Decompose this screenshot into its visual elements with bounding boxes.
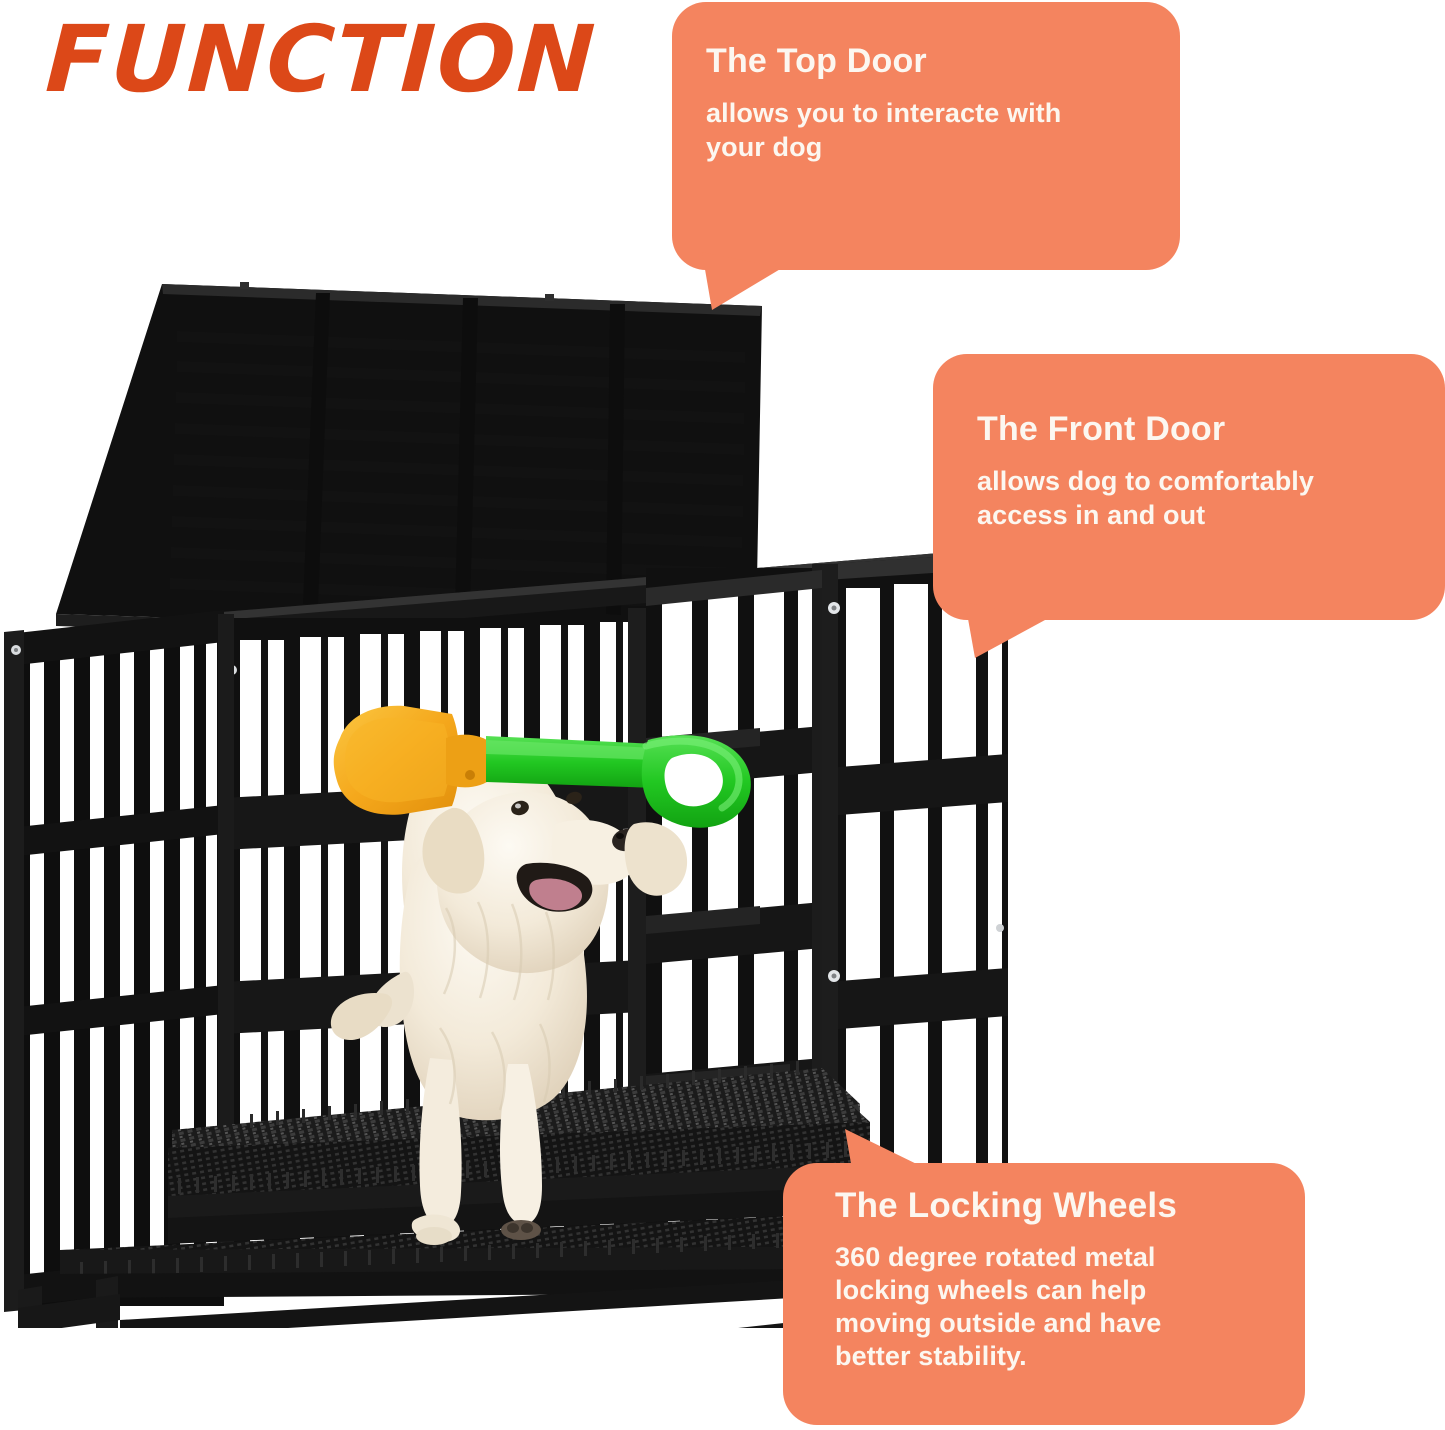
callout-top-door-body: The Top Door allows you to interacte wit… (672, 2, 1180, 270)
callout-locking-wheels-line-4: better stability. (835, 1340, 1271, 1373)
infographic-canvas: FUNCTION (0, 0, 1445, 1430)
callout-locking-wheels-body: The Locking Wheels 360 degree rotated me… (783, 1163, 1305, 1425)
callout-locking-wheels-line-2: locking wheels can help (835, 1274, 1271, 1307)
callout-locking-wheels-title: The Locking Wheels (835, 1185, 1271, 1227)
callout-front-door-tail (933, 602, 1133, 672)
callout-front-door-line-1: allows dog to comfortably (977, 464, 1411, 498)
callout-top-door-line-1: allows you to interacte with (706, 96, 1146, 130)
callout-front-door-title: The Front Door (977, 408, 1411, 450)
callout-locking-wheels-line-1: 360 degree rotated metal (835, 1241, 1271, 1274)
callout-top-door-line-2: your dog (706, 130, 1146, 164)
callout-locking-wheels-line-3: moving outside and have (835, 1307, 1271, 1340)
callout-top-door-tail (672, 252, 872, 322)
page-title: FUNCTION (43, 8, 609, 118)
callout-top-door-title: The Top Door (706, 40, 1146, 82)
callout-front-door-line-2: access in and out (977, 498, 1411, 532)
callout-front-door-body: The Front Door allows dog to comfortably… (933, 354, 1445, 620)
